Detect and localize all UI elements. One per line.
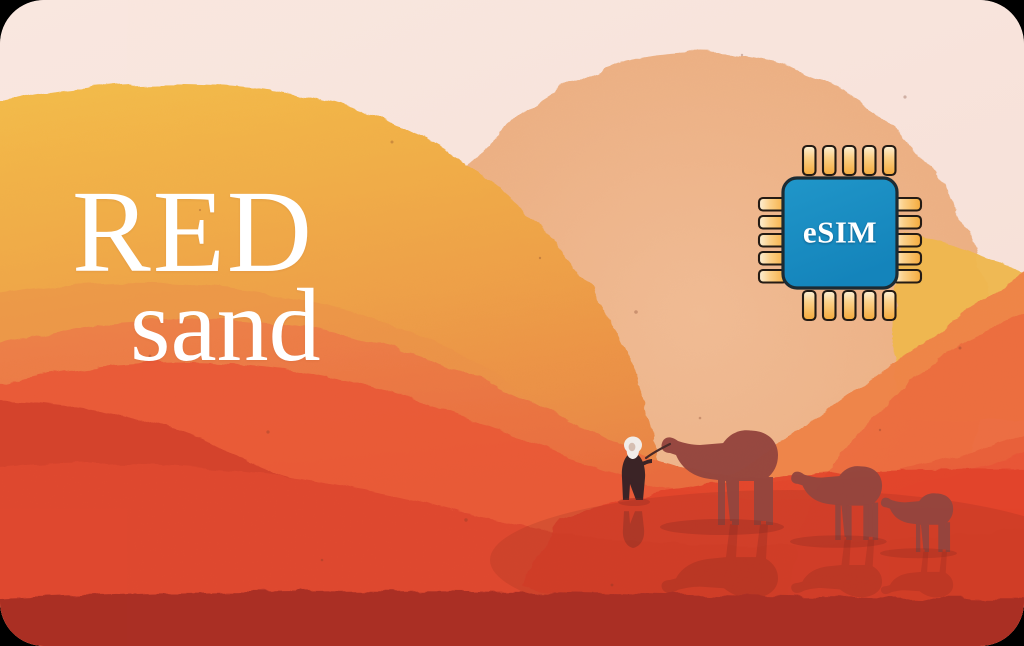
esim-card: RED sand xyxy=(0,0,1024,646)
esim-chip-icon: eSIM xyxy=(757,144,923,322)
chip-body xyxy=(783,178,897,288)
chip-pins-top xyxy=(803,146,896,175)
chip-pins-bottom xyxy=(803,291,896,320)
desert-landscape-artwork xyxy=(0,0,1024,646)
